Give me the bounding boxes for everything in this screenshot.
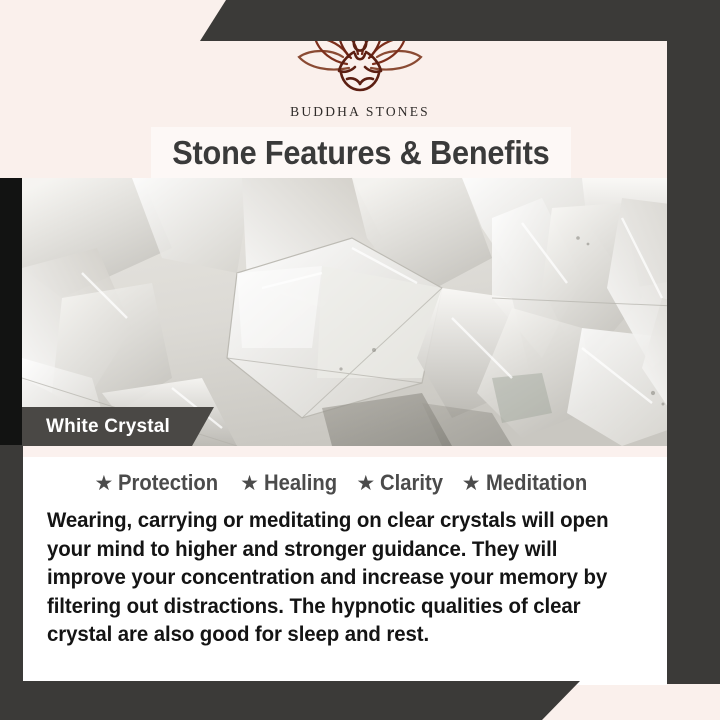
stone-name-label: White Crystal bbox=[46, 416, 170, 438]
benefit-item-healing: ★ Healing bbox=[240, 470, 343, 496]
stone-name-tag: White Crystal bbox=[22, 407, 214, 446]
benefit-label: Protection bbox=[118, 470, 218, 496]
benefit-item-clarity: ★ Clarity bbox=[356, 470, 448, 496]
benefit-label: Meditation bbox=[486, 470, 587, 496]
content-top-strip bbox=[23, 446, 667, 457]
benefits-row: ★ Protection ★ Healing ★ Clarity ★ Medit… bbox=[47, 466, 643, 500]
star-icon: ★ bbox=[356, 473, 375, 494]
frame-top-bar bbox=[200, 0, 720, 41]
crystal-cluster-image bbox=[22, 178, 720, 446]
page-title: Stone Features & Benefits bbox=[172, 134, 549, 172]
stone-photo bbox=[22, 178, 720, 446]
description-text: Wearing, carrying or meditating on clear… bbox=[47, 506, 642, 649]
content-panel: ★ Protection ★ Healing ★ Clarity ★ Medit… bbox=[23, 457, 667, 685]
brand-name: BUDDHA STONES bbox=[290, 104, 430, 120]
frame-bottom-bar bbox=[0, 681, 580, 720]
star-icon: ★ bbox=[240, 473, 259, 494]
infographic-card: BUDDHA STONES Stone Features & Benefits bbox=[0, 0, 720, 720]
benefit-label: Clarity bbox=[380, 470, 443, 496]
star-icon: ★ bbox=[462, 473, 481, 494]
frame-right-bar bbox=[667, 0, 720, 684]
frame-left-bar bbox=[0, 445, 23, 685]
benefit-item-meditation: ★ Meditation bbox=[462, 470, 596, 496]
frame-left-photo-edge bbox=[0, 178, 22, 446]
benefit-label: Healing bbox=[264, 470, 337, 496]
title-band: Stone Features & Benefits bbox=[151, 127, 571, 178]
star-icon: ★ bbox=[94, 473, 113, 494]
benefit-item-protection: ★ Protection bbox=[94, 470, 227, 496]
